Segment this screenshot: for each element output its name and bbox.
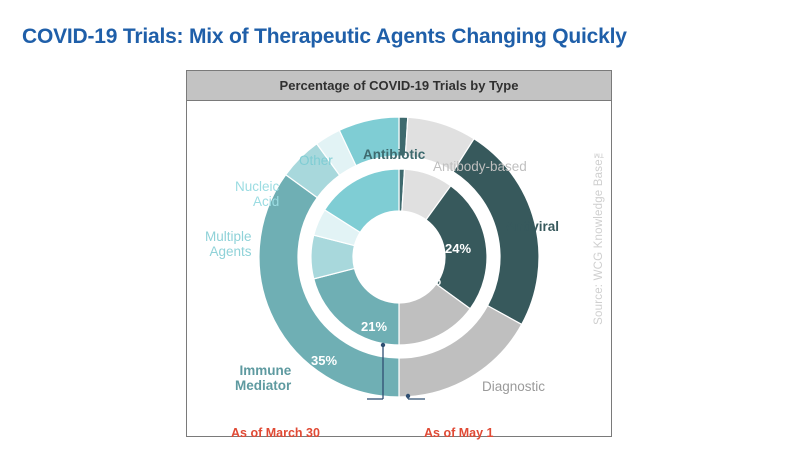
- source-note: Source: WCG Knowledge Base™: [593, 147, 605, 325]
- legend-label-march30: As of March 30: [231, 426, 320, 440]
- ring-outer-may1: [259, 117, 539, 397]
- page-title: COVID-19 Trials: Mix of Therapeutic Agen…: [22, 25, 627, 49]
- ring-inner-march30: [311, 169, 487, 345]
- plot-area: Antibiotic Antibody-based Antiviral Diag…: [187, 101, 611, 437]
- chart-panel: Percentage of COVID-19 Trials by Type An…: [186, 70, 612, 437]
- chart-title: Percentage of COVID-19 Trials by Type: [280, 78, 519, 93]
- legend-label-may1: As of May 1: [424, 426, 493, 440]
- donut-chart: [239, 107, 559, 407]
- chart-header: Percentage of COVID-19 Trials by Type: [187, 71, 611, 101]
- donut-svg: [239, 107, 559, 407]
